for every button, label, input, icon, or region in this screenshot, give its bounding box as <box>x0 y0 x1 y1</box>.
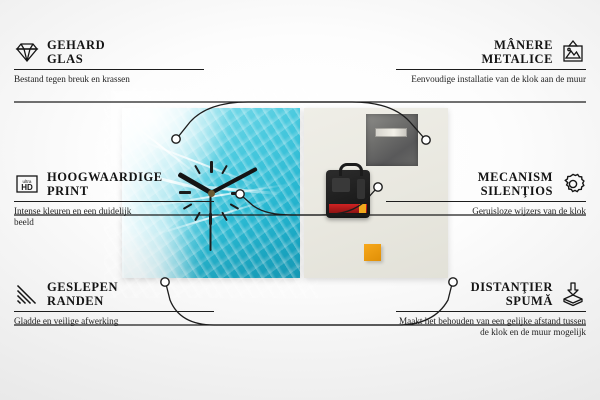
feature-rule <box>14 201 214 202</box>
feature-description: Eenvoudige installatie van de klok aan d… <box>396 74 586 85</box>
gear-icon <box>560 171 586 197</box>
infographic-canvas: GEHARD GLAS Bestand tegen breuk en krass… <box>0 0 600 400</box>
svg-text:HD: HD <box>21 183 33 192</box>
feature-manere-metalice: MÂNERE METALICE Eenvoudige installatie v… <box>396 38 586 85</box>
feature-description: Maakt het behouden van een gelijke afsta… <box>396 316 586 339</box>
foam-spacer <box>364 244 381 261</box>
feature-title-line2: SILENŢIOS <box>481 184 553 198</box>
bevelled-edge-icon <box>14 281 40 307</box>
feature-rule <box>386 201 586 202</box>
feature-mecanism-silentios: MECANISM SILENŢIOS Geruisloze wijzers va… <box>386 170 586 217</box>
feature-title-line2: PRINT <box>47 184 89 198</box>
feature-rule <box>14 311 214 312</box>
feature-title-line1: GEHARD <box>47 38 105 52</box>
mechanism-detail-side <box>357 179 365 199</box>
feature-description: Gladde en veilige afwerking <box>14 316 179 327</box>
feature-gehard-glas: GEHARD GLAS Bestand tegen breuk en krass… <box>14 38 204 85</box>
ultra-hd-icon: ultra HD <box>14 171 40 197</box>
feature-rule <box>396 69 586 70</box>
feature-rule <box>396 311 586 312</box>
picture-hanger-icon <box>560 39 586 65</box>
metal-hanger <box>366 114 418 166</box>
mechanism-loop <box>339 163 363 176</box>
feature-hoogwaardige-print: ultra HD HOOGWAARDIGE PRINT Intense kleu… <box>14 170 214 229</box>
feature-title-line1: HOOGWAARDIGE <box>47 170 163 184</box>
feature-title-line2: RANDEN <box>47 294 104 308</box>
feature-description: Intense kleuren en een duidelijk beeld <box>14 206 134 229</box>
feature-title-line1: DISTANŢIER <box>471 280 553 294</box>
feature-title-line2: METALICE <box>481 52 553 66</box>
feature-geslepen-randen: GESLEPEN RANDEN Gladde en veilige afwerk… <box>14 280 214 327</box>
feature-description: Bestand tegen breuk en krassen <box>14 74 142 85</box>
feature-distantier-spuma: DISTANŢIER SPUMĂ Maakt het behouden van … <box>396 280 586 339</box>
feature-title-line1: GESLEPEN <box>47 280 118 294</box>
quartz-mechanism <box>326 170 370 218</box>
feature-title-line2: SPUMĂ <box>506 294 553 308</box>
feature-description: Geruisloze wijzers van de klok <box>386 206 586 217</box>
mechanism-detail <box>332 178 350 192</box>
diamond-icon <box>14 39 40 65</box>
feature-title-line1: MECANISM <box>478 170 553 184</box>
battery-label <box>329 204 367 213</box>
hanger-slot <box>375 128 407 137</box>
feature-rule <box>14 69 204 70</box>
foam-spacer-icon <box>560 281 586 307</box>
feature-title-line2: GLAS <box>47 52 83 66</box>
feature-title-line1: MÂNERE <box>494 38 553 52</box>
